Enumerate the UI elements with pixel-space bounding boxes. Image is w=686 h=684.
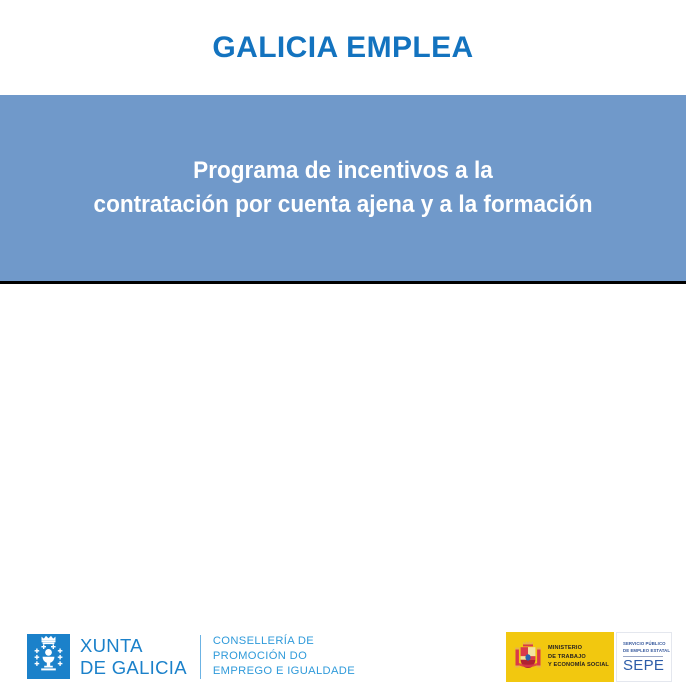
ministerio-wordmark: MINISTERIO DE TRABAJO Y ECONOMÍA SOCIAL: [548, 644, 609, 669]
page-title: GALICIA EMPLEA: [212, 31, 473, 65]
hero-banner: Programa de incentivos a la contratación…: [0, 95, 686, 281]
xunta-galicia-chalice-crown-emblem: [27, 634, 70, 679]
ministerio-line-1: MINISTERIO: [548, 644, 609, 652]
spain-coat-of-arms-svg: [515, 640, 541, 674]
conselleria-line-3: EMPREGO E IGUALDADE: [213, 664, 355, 679]
conselleria-line-2: PROMOCIÓN DO: [213, 649, 355, 664]
footer-logo-bar: XUNTA DE GALICIA CONSELLERÍA DE PROMOCIÓ…: [0, 284, 686, 410]
ministerio-line-2: DE TRABAJO: [548, 653, 609, 661]
sepe-logo: SERVICIO PÚBLICO DE EMPLEO ESTATAL SEPE: [616, 632, 672, 682]
ministerio-line-3: Y ECONOMÍA SOCIAL: [548, 661, 609, 669]
xunta-emblem-svg: [27, 634, 70, 679]
sepe-caption-line-2: DE EMPLEO ESTATAL: [623, 648, 670, 654]
hero-banner-text: Programa de incentivos a la contratación…: [21, 154, 666, 222]
sepe-rule: [623, 656, 663, 657]
spain-coat-of-arms-icon: [515, 640, 541, 674]
conselleria-name: CONSELLERÍA DE PROMOCIÓN DO EMPREGO E IG…: [213, 634, 355, 679]
sepe-caption-line-1: SERVICIO PÚBLICO: [623, 641, 670, 647]
xunta-wordmark: XUNTA DE GALICIA: [80, 635, 187, 678]
conselleria-line-1: CONSELLERÍA DE: [213, 634, 355, 649]
logo-separator: [200, 635, 201, 679]
xunta-wordmark-line-1: XUNTA: [80, 635, 187, 656]
xunta-wordmark-line-2: DE GALICIA: [80, 657, 187, 678]
sepe-caption: SERVICIO PÚBLICO DE EMPLEO ESTATAL: [623, 641, 670, 653]
title-band: GALICIA EMPLEA: [0, 0, 686, 95]
hero-banner-line-2: contratación por cuenta ajena y a la for…: [21, 188, 666, 222]
xunta-de-galicia-logo: XUNTA DE GALICIA CONSELLERÍA DE PROMOCIÓ…: [27, 634, 355, 679]
hero-banner-line-1: Programa de incentivos a la: [21, 154, 666, 188]
sepe-acronym: SEPE: [623, 658, 664, 673]
ministerio-de-trabajo-logo: MINISTERIO DE TRABAJO Y ECONOMÍA SOCIAL: [506, 632, 614, 682]
